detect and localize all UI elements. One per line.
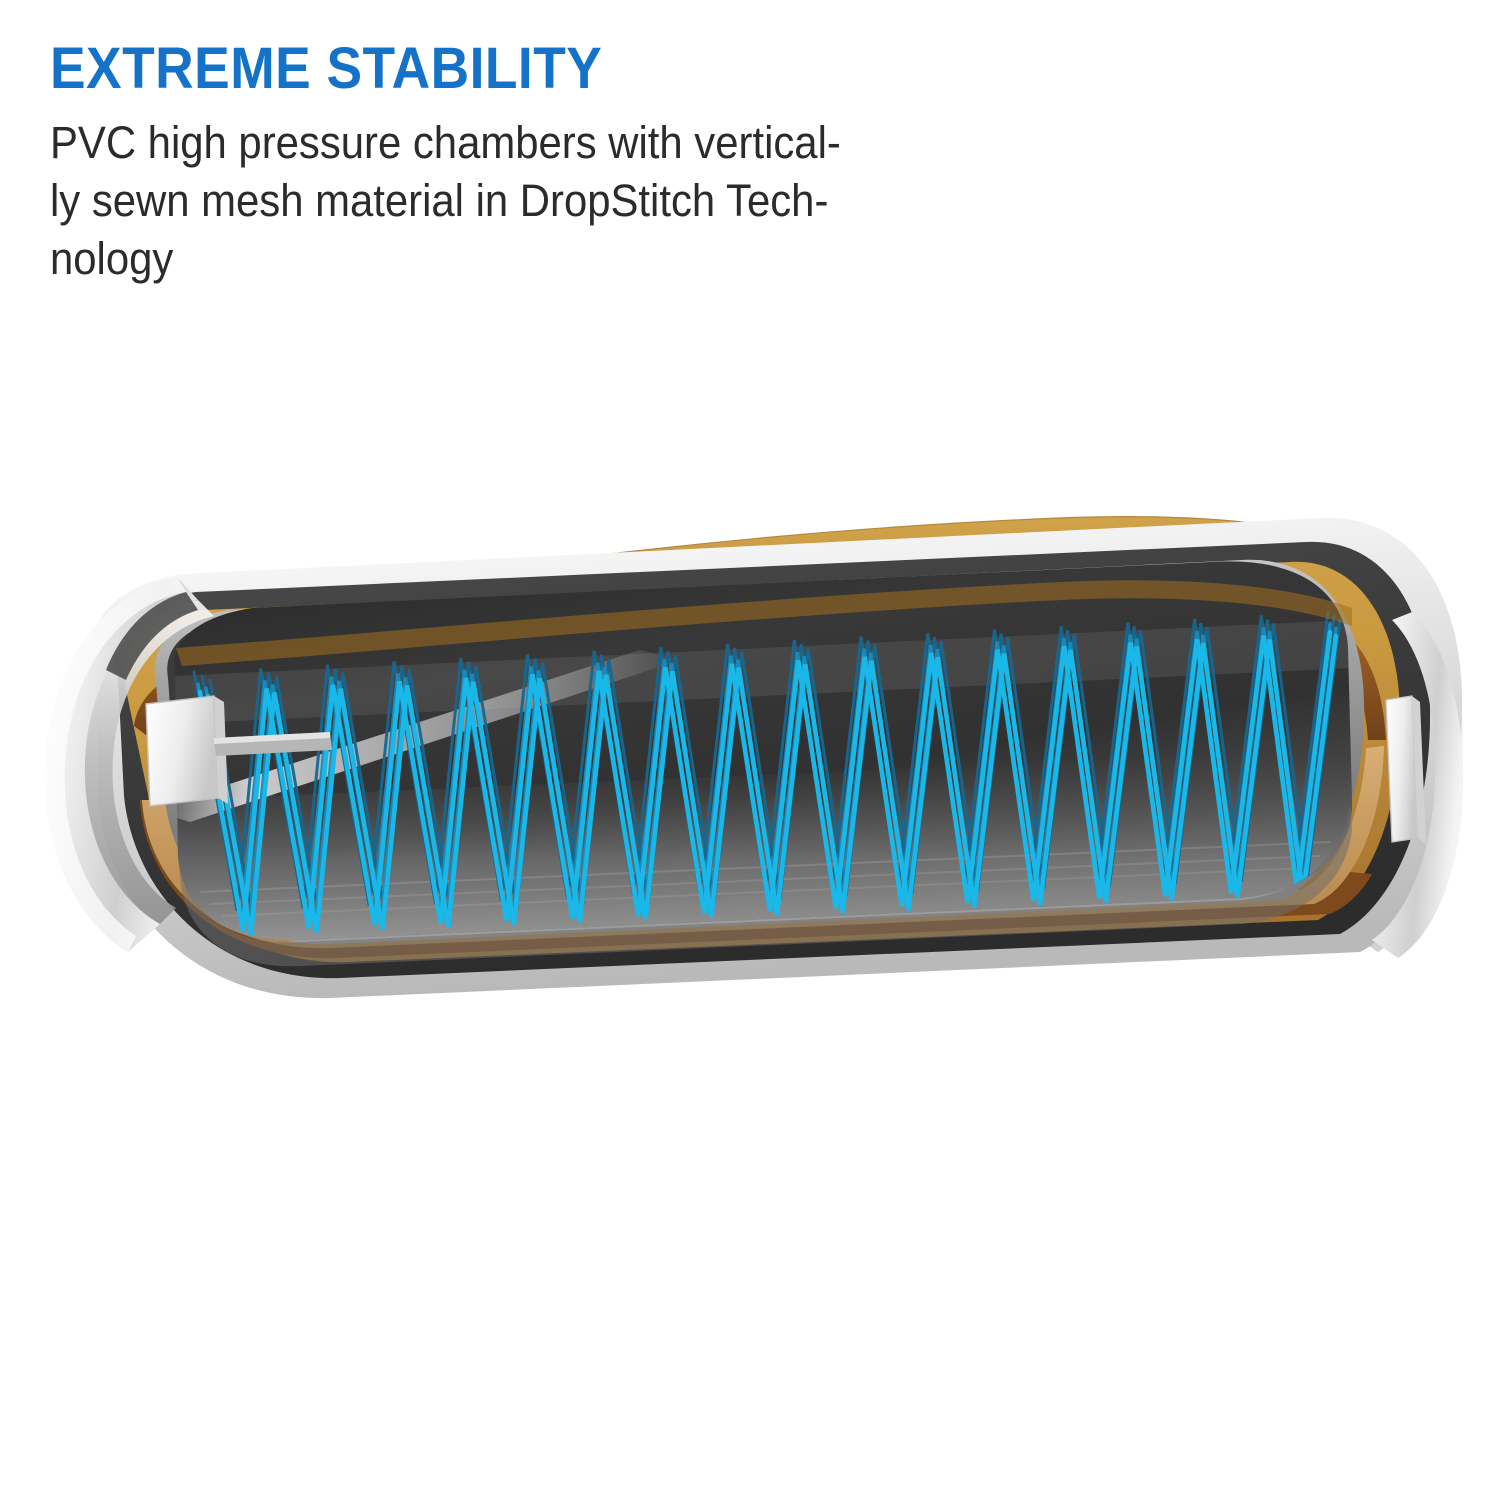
description-line-3: nology	[50, 230, 989, 288]
page-title: EXTREME STABILITY	[50, 38, 1025, 100]
description-paragraph: PVC high pressure chambers with vertical…	[50, 114, 989, 288]
text-block: EXTREME STABILITY PVC high pressure cham…	[50, 38, 1110, 288]
dropstitch-cutaway-illustration	[0, 500, 1500, 1020]
left-cap-tab-plate	[146, 696, 218, 806]
page-root: EXTREME STABILITY PVC high pressure cham…	[0, 0, 1500, 1500]
description-line-2: ly sewn mesh material in DropStitch Tech…	[50, 172, 989, 230]
description-line-1: PVC high pressure chambers with vertical…	[50, 114, 989, 172]
